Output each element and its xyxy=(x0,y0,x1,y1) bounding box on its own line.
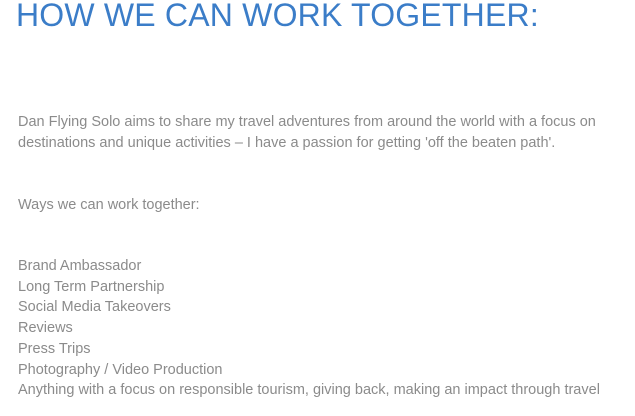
list-item: Photography / Video Production xyxy=(18,360,618,381)
content-body: Dan Flying Solo aims to share my travel … xyxy=(18,112,618,401)
services-list: Brand Ambassador Long Term Partnership S… xyxy=(18,256,618,401)
list-item: Long Term Partnership xyxy=(18,277,618,298)
list-item: Social Media Takeovers xyxy=(18,297,618,318)
intro-paragraph: Dan Flying Solo aims to share my travel … xyxy=(18,112,608,154)
page-title: HOW WE CAN WORK TOGETHER: xyxy=(16,0,539,34)
services-lead-in: Ways we can work together: xyxy=(18,195,618,216)
list-item: Anything with a focus on responsible tou… xyxy=(18,380,618,401)
list-item: Press Trips xyxy=(18,339,618,360)
page-container: HOW WE CAN WORK TOGETHER: Dan Flying Sol… xyxy=(0,0,635,416)
list-item: Reviews xyxy=(18,318,618,339)
spacer-above-list xyxy=(18,216,618,256)
list-item: Brand Ambassador xyxy=(18,256,618,277)
spacer-above-lead-in xyxy=(18,154,618,195)
